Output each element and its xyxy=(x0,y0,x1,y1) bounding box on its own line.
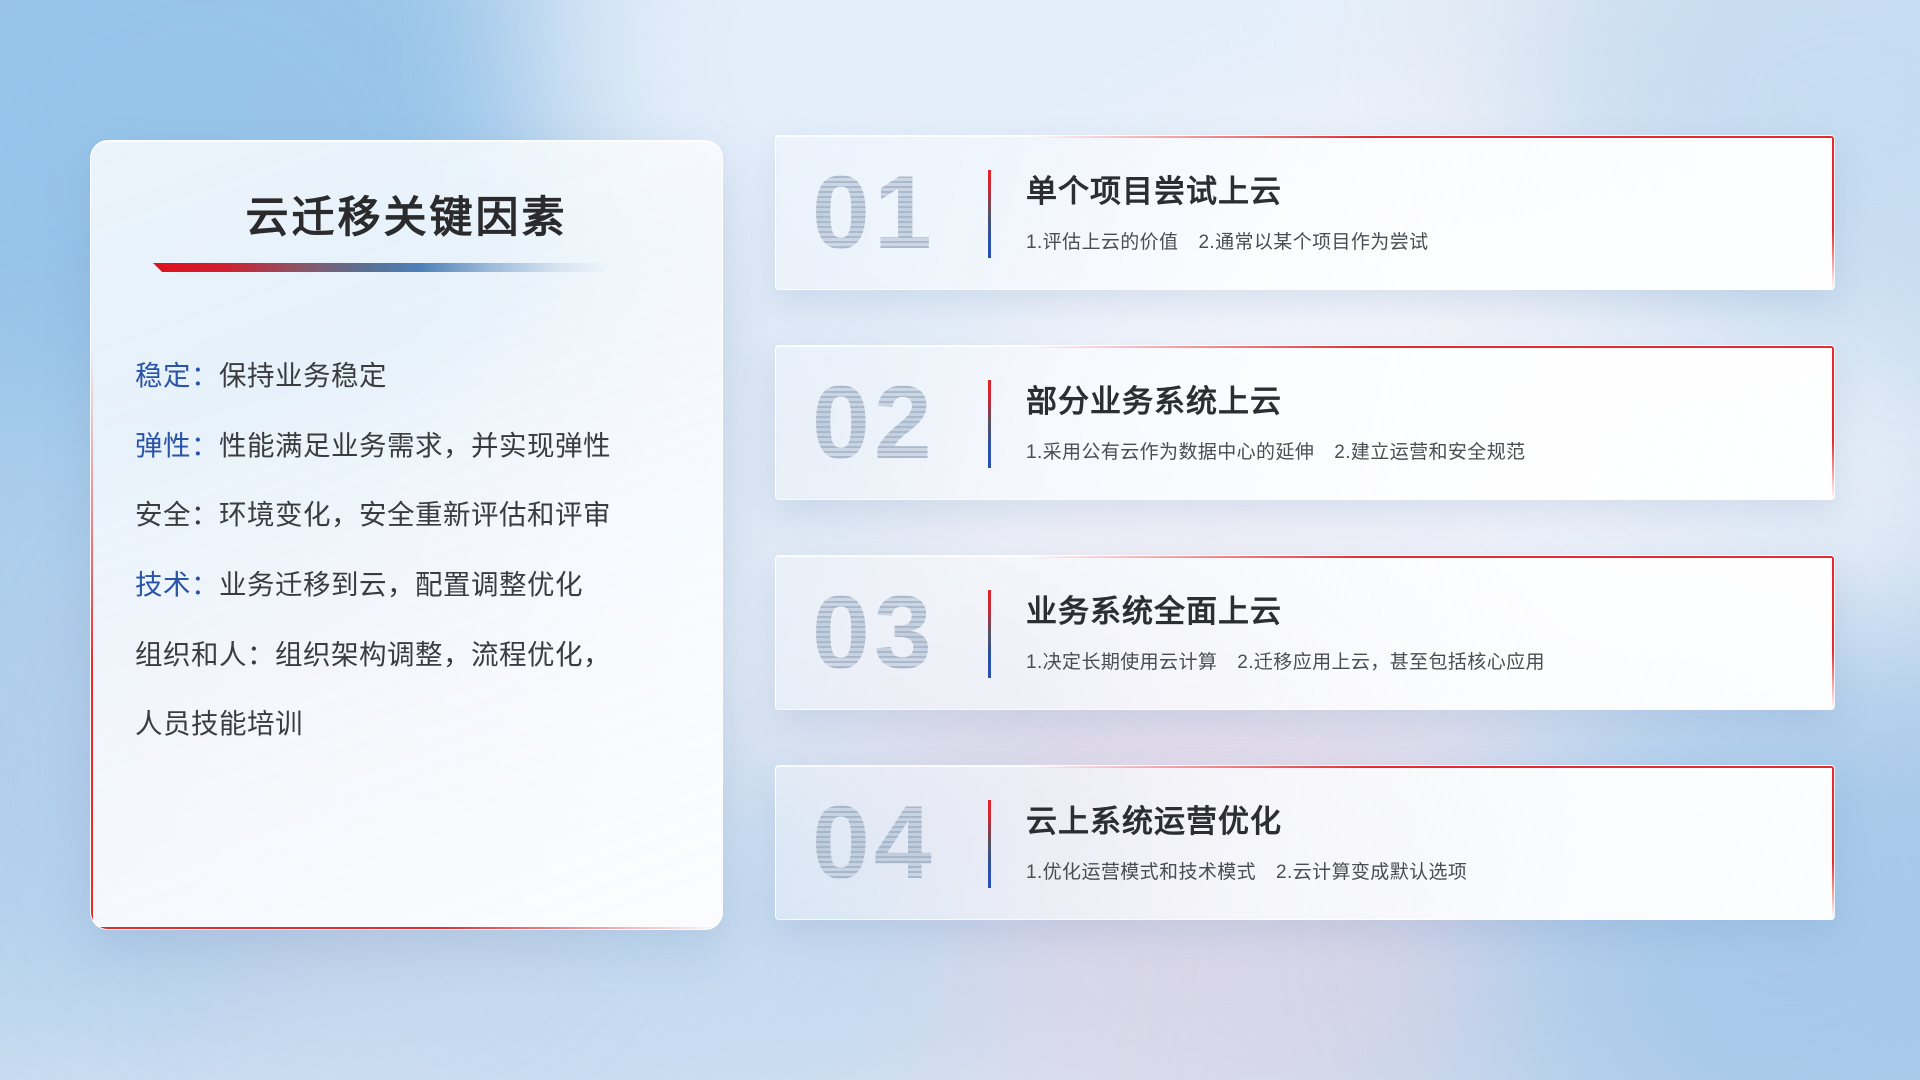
list-item-text: 保持业务稳定 xyxy=(219,360,387,391)
panel-title: 云迁移关键因素 xyxy=(91,183,722,245)
stage-number: 04 xyxy=(812,791,936,895)
list-item-text: 性能满足业务需求，并实现弹性 xyxy=(219,430,611,461)
list-item-text: 人员技能培训 xyxy=(135,708,303,739)
list-item-text: 组织架构调整，流程优化， xyxy=(275,639,611,670)
stage-card-body: 云上系统运营优化 1.优化运营模式和技术模式2.云计算变成默认选项 xyxy=(1026,796,1804,884)
stage-number: 03 xyxy=(812,581,936,685)
list-item: 安全：环境变化，安全重新评估和评审 xyxy=(135,498,694,533)
slide-canvas: 云迁移关键因素 稳定：保持业务稳定 弹性：性能满足业务需求，并实现弹性 安全：环… xyxy=(0,0,1920,1080)
list-item: 稳定：保持业务稳定 xyxy=(135,359,694,394)
list-item-label: 弹性： xyxy=(135,430,219,461)
list-item-text: 业务迁移到云，配置调整优化 xyxy=(219,569,583,600)
stage-subtitle-part-2: 2.通常以某个项目作为尝试 xyxy=(1198,232,1428,253)
stage-title: 部分业务系统上云 xyxy=(1026,376,1804,421)
stage-card-list: 01 单个项目尝试上云 1.评估上云的价值2.通常以某个项目作为尝试 02 部分… xyxy=(775,135,1835,975)
stage-card-body: 业务系统全面上云 1.决定长期使用云计算2.迁移应用上云，甚至包括核心应用 xyxy=(1026,586,1804,674)
list-item-continuation: 人员技能培训 xyxy=(135,707,694,742)
stage-number: 02 xyxy=(812,371,936,475)
stage-divider xyxy=(988,170,991,258)
key-factors-list: 稳定：保持业务稳定 弹性：性能满足业务需求，并实现弹性 安全：环境变化，安全重新… xyxy=(135,359,694,777)
stage-subtitle: 1.决定长期使用云计算2.迁移应用上云，甚至包括核心应用 xyxy=(1026,647,1804,674)
stage-subtitle-part-2: 2.建立运营和安全规范 xyxy=(1334,442,1525,463)
stage-divider xyxy=(988,380,991,468)
stage-card[interactable]: 04 云上系统运营优化 1.优化运营模式和技术模式2.云计算变成默认选项 xyxy=(775,765,1835,920)
stage-subtitle: 1.评估上云的价值2.通常以某个项目作为尝试 xyxy=(1026,227,1804,254)
stage-card-body: 单个项目尝试上云 1.评估上云的价值2.通常以某个项目作为尝试 xyxy=(1026,166,1804,254)
list-item-label: 组织和人： xyxy=(135,639,275,670)
stage-title: 单个项目尝试上云 xyxy=(1026,166,1804,211)
stage-subtitle-part-1: 1.评估上云的价值 xyxy=(1026,232,1178,253)
list-item-label: 技术： xyxy=(135,569,219,600)
list-item-label: 安全： xyxy=(135,499,219,530)
stage-title: 业务系统全面上云 xyxy=(1026,586,1804,631)
stage-subtitle: 1.优化运营模式和技术模式2.云计算变成默认选项 xyxy=(1026,857,1804,884)
title-underline-gradient xyxy=(153,263,611,272)
stage-subtitle-part-1: 1.决定长期使用云计算 xyxy=(1026,652,1217,673)
list-item: 组织和人：组织架构调整，流程优化， xyxy=(135,638,694,673)
stage-divider xyxy=(988,590,991,678)
stage-subtitle-part-1: 1.优化运营模式和技术模式 xyxy=(1026,862,1256,883)
stage-number: 01 xyxy=(812,161,936,265)
list-item-text: 环境变化，安全重新评估和评审 xyxy=(219,499,611,530)
stage-subtitle-part-1: 1.采用公有云作为数据中心的延伸 xyxy=(1026,442,1314,463)
stage-card[interactable]: 02 部分业务系统上云 1.采用公有云作为数据中心的延伸2.建立运营和安全规范 xyxy=(775,345,1835,500)
list-item: 技术：业务迁移到云，配置调整优化 xyxy=(135,568,694,603)
stage-subtitle-part-2: 2.迁移应用上云，甚至包括核心应用 xyxy=(1237,652,1545,673)
stage-card[interactable]: 03 业务系统全面上云 1.决定长期使用云计算2.迁移应用上云，甚至包括核心应用 xyxy=(775,555,1835,710)
stage-subtitle-part-2: 2.云计算变成默认选项 xyxy=(1276,862,1467,883)
stage-card[interactable]: 01 单个项目尝试上云 1.评估上云的价值2.通常以某个项目作为尝试 xyxy=(775,135,1835,290)
stage-subtitle: 1.采用公有云作为数据中心的延伸2.建立运营和安全规范 xyxy=(1026,437,1804,464)
list-item-label: 稳定： xyxy=(135,360,219,391)
stage-card-body: 部分业务系统上云 1.采用公有云作为数据中心的延伸2.建立运营和安全规范 xyxy=(1026,376,1804,464)
key-factors-panel: 云迁移关键因素 稳定：保持业务稳定 弹性：性能满足业务需求，并实现弹性 安全：环… xyxy=(90,140,723,930)
list-item: 弹性：性能满足业务需求，并实现弹性 xyxy=(135,429,694,464)
stage-title: 云上系统运营优化 xyxy=(1026,796,1804,841)
stage-divider xyxy=(988,800,991,888)
